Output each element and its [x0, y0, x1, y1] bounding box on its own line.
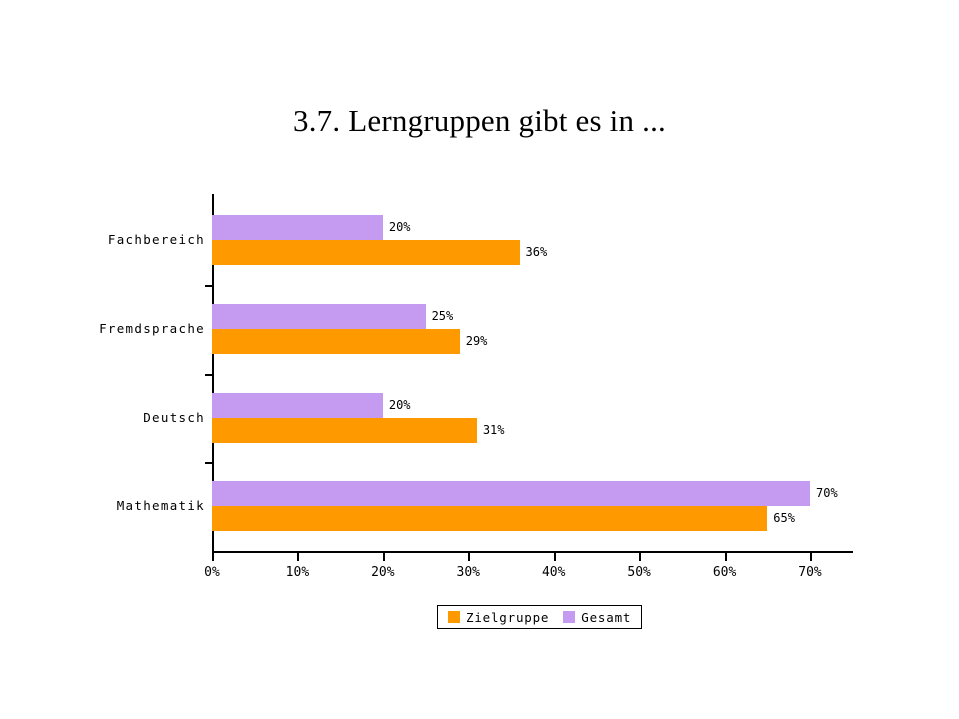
x-axis-tick: [468, 553, 470, 561]
x-axis-tick-label: 60%: [695, 565, 755, 580]
y-axis-category-label: Fremdsprache: [0, 321, 205, 336]
x-axis-tick: [212, 553, 214, 561]
bar-value-label-gesamt: 20%: [389, 220, 411, 234]
bar-gesamt: [212, 393, 383, 418]
y-axis-tick: [205, 374, 213, 376]
x-axis-tick-label: 50%: [609, 565, 669, 580]
x-axis-tick: [554, 553, 556, 561]
chart-title: 3.7. Lerngruppen gibt es in ...: [0, 103, 959, 139]
bar-value-label-zielgruppe: 31%: [483, 423, 505, 437]
x-axis-tick: [725, 553, 727, 561]
bar-zielgruppe: [212, 418, 477, 443]
x-axis-tick-label: 40%: [524, 565, 584, 580]
legend-label-gesamt: Gesamt: [581, 610, 631, 625]
legend-label-zielgruppe: Zielgruppe: [466, 610, 549, 625]
bar-gesamt: [212, 304, 426, 329]
y-axis-tick: [205, 462, 213, 464]
x-axis-tick-label: 70%: [780, 565, 840, 580]
y-axis-category-label: Deutsch: [0, 410, 205, 425]
chart-container: 3.7. Lerngruppen gibt es in ... Mathemat…: [0, 0, 959, 719]
legend-item-gesamt: Gesamt: [563, 610, 631, 625]
bar-zielgruppe: [212, 240, 520, 265]
bar-zielgruppe: [212, 329, 460, 354]
x-axis-tick: [810, 553, 812, 561]
bar-value-label-gesamt: 70%: [816, 486, 838, 500]
legend-item-zielgruppe: Zielgruppe: [448, 610, 549, 625]
y-axis-category-label: Mathematik: [0, 498, 205, 513]
bar-value-label-zielgruppe: 36%: [526, 245, 548, 259]
bar-zielgruppe: [212, 506, 767, 531]
bar-gesamt: [212, 215, 383, 240]
x-axis-tick-label: 0%: [182, 565, 242, 580]
legend-swatch-gesamt: [563, 611, 575, 623]
chart-legend: Zielgruppe Gesamt: [437, 605, 642, 629]
x-axis-tick-label: 30%: [438, 565, 498, 580]
x-axis-line: [212, 551, 853, 553]
x-axis-tick-label: 10%: [267, 565, 327, 580]
y-axis-tick: [205, 285, 213, 287]
bar-value-label-gesamt: 25%: [432, 309, 454, 323]
x-axis-tick: [383, 553, 385, 561]
bar-gesamt: [212, 481, 810, 506]
y-axis-category-label: Fachbereich: [0, 232, 205, 247]
x-axis-tick: [639, 553, 641, 561]
x-axis-tick: [297, 553, 299, 561]
x-axis-tick-label: 20%: [353, 565, 413, 580]
bar-value-label-zielgruppe: 65%: [773, 511, 795, 525]
bar-value-label-zielgruppe: 29%: [466, 334, 488, 348]
legend-swatch-zielgruppe: [448, 611, 460, 623]
bar-value-label-gesamt: 20%: [389, 398, 411, 412]
